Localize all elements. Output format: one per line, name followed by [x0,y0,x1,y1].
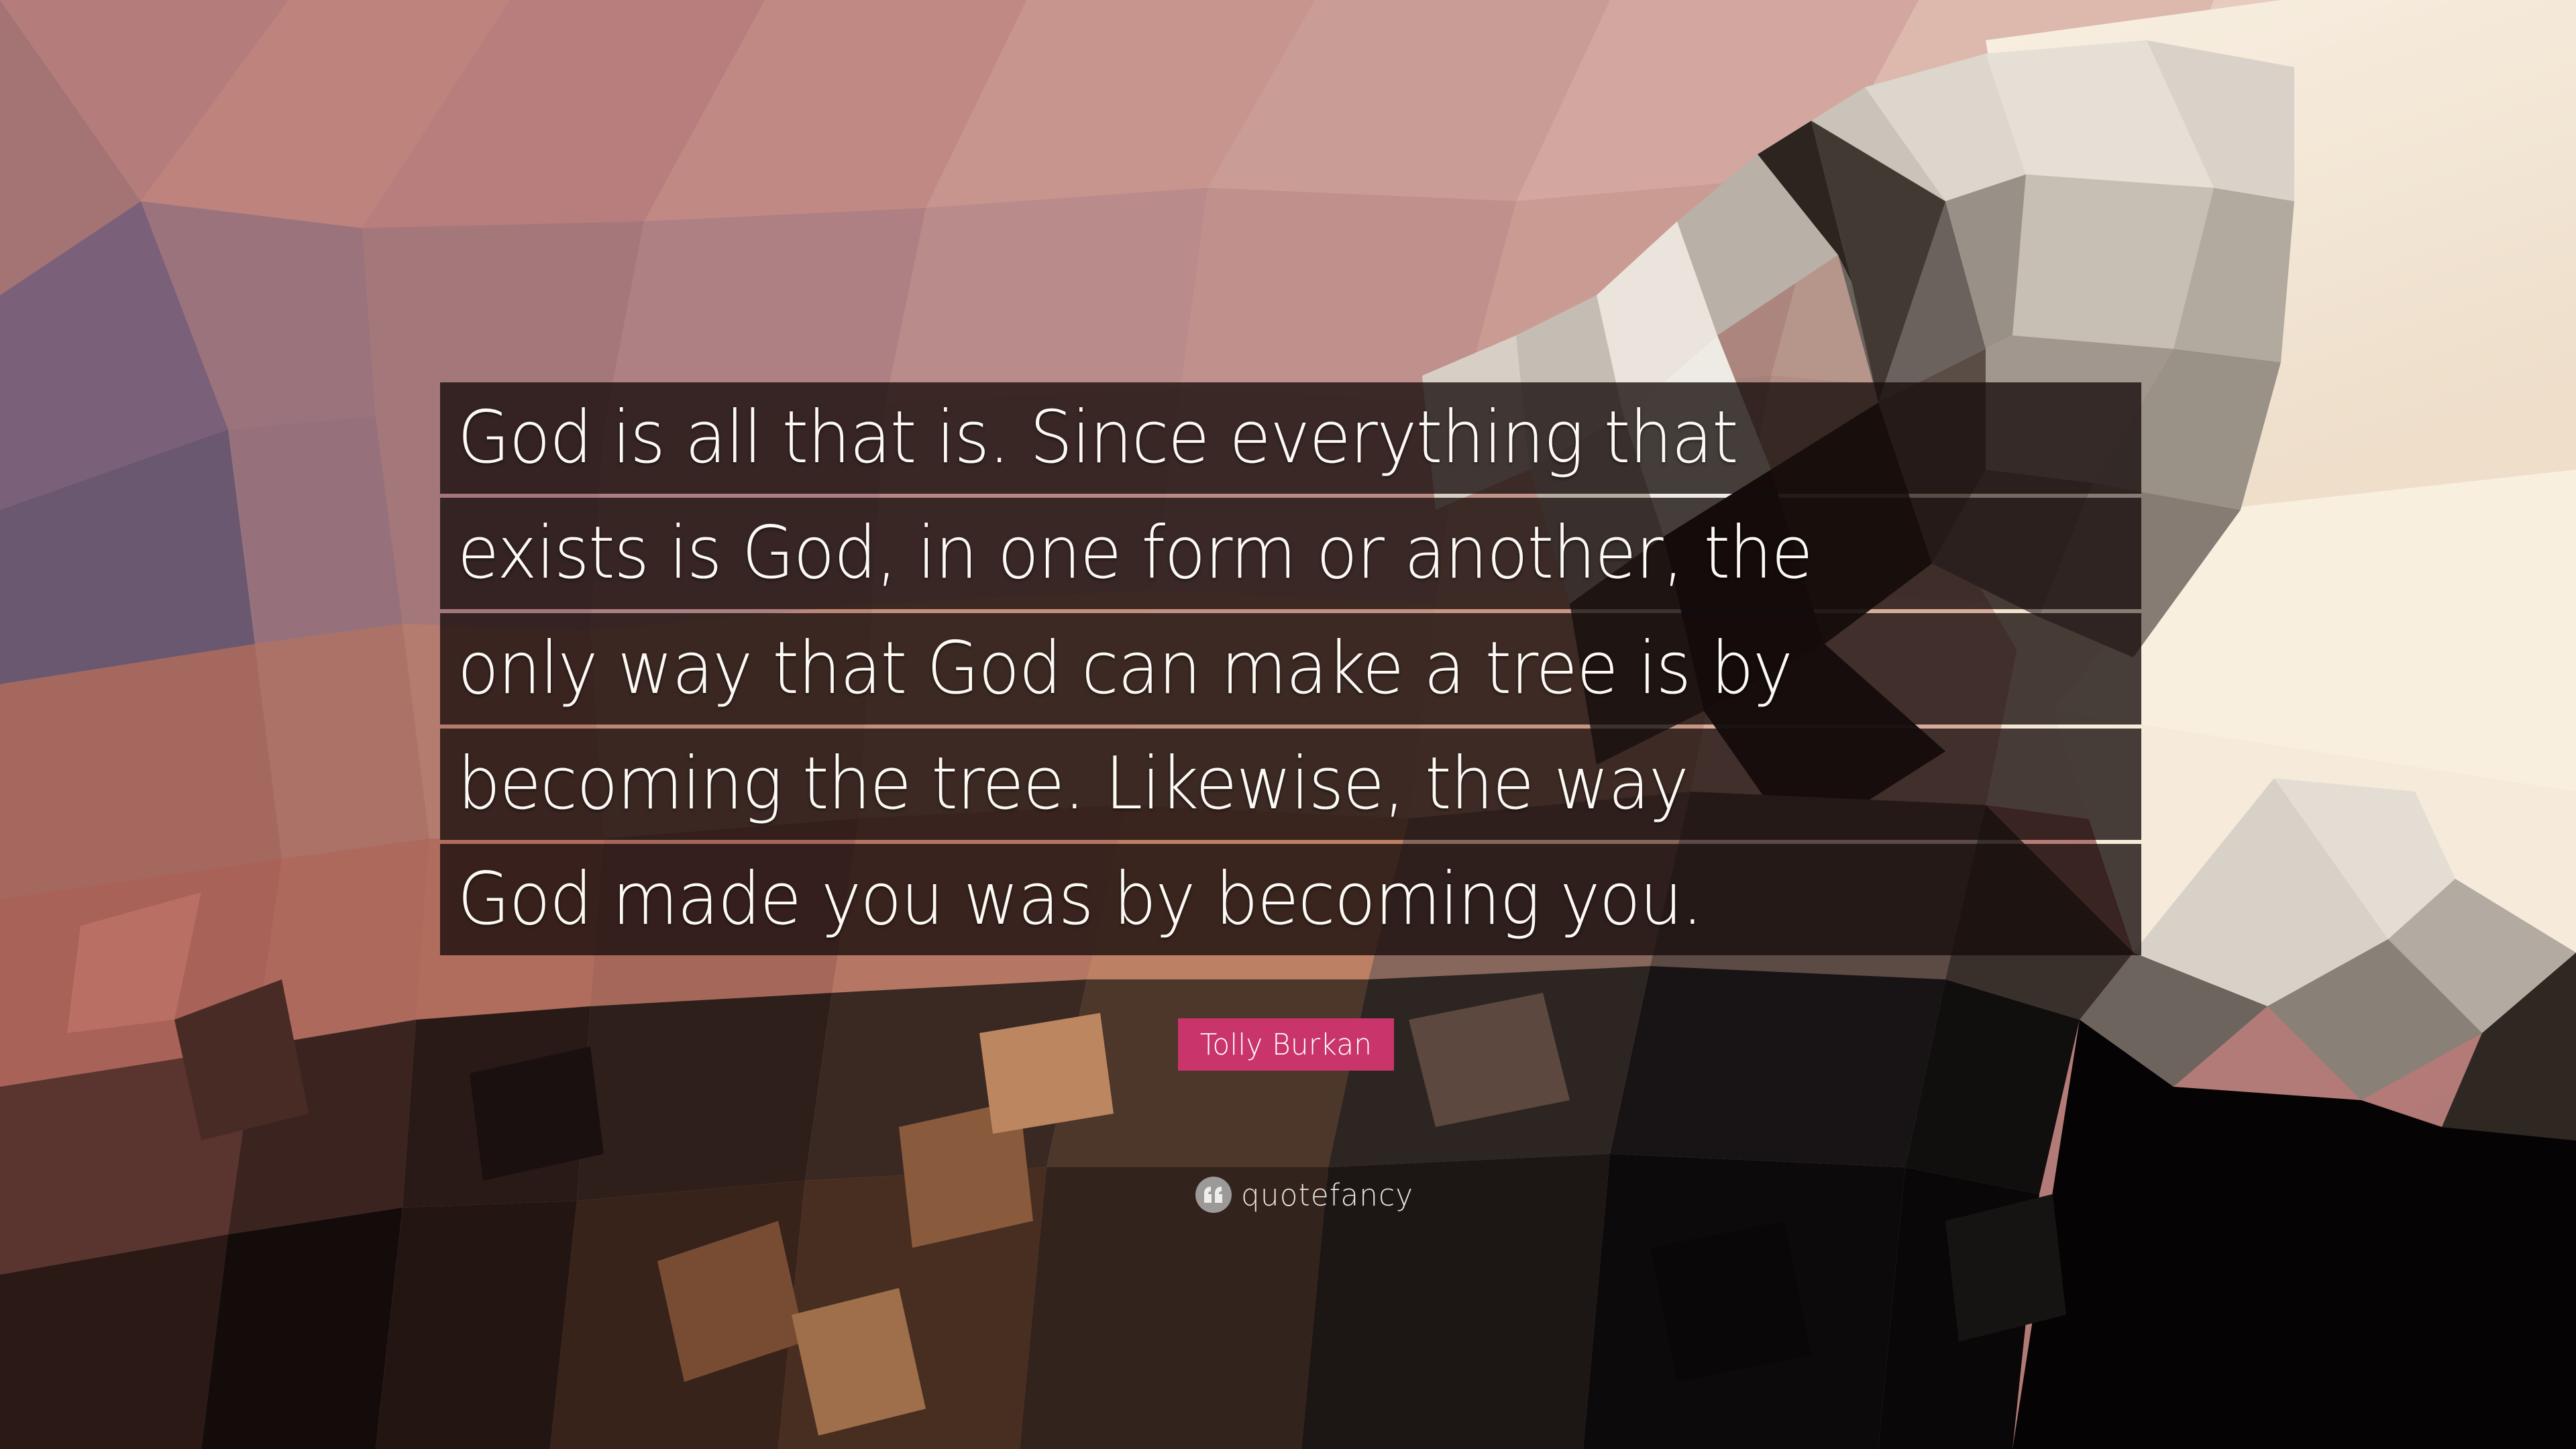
quote-poster: God is all that is. Since everything tha… [0,0,2576,1449]
quote-line: exists is God, in one form or another, t… [440,498,2141,609]
author-name: Tolly Burkan [1200,1028,1372,1062]
quote-line-text: God is all that is. Since everything tha… [458,402,1737,474]
quote-line: God made you was by becoming you. [440,844,2141,955]
quote-line-text: only way that God can make a tree is by [458,633,1792,705]
quote-line-text: exists is God, in one form or another, t… [458,517,1812,590]
quote-mark-icon [1195,1177,1232,1213]
quote-text-block: God is all that is. Since everything tha… [440,382,2141,955]
quote-line: only way that God can make a tree is by [440,613,2141,724]
quote-line-text: God made you was by becoming you. [458,863,1703,936]
quote-line: God is all that is. Since everything tha… [440,382,2141,494]
quotefancy-logo[interactable]: quotefancy [1195,1175,1419,1214]
author-badge[interactable]: Tolly Burkan [1178,1018,1394,1071]
quotefancy-wordmark: quotefancy [1241,1177,1413,1213]
quote-line: becoming the tree. Likewise, the way [440,729,2141,840]
quote-line-text: becoming the tree. Likewise, the way [458,748,1688,820]
